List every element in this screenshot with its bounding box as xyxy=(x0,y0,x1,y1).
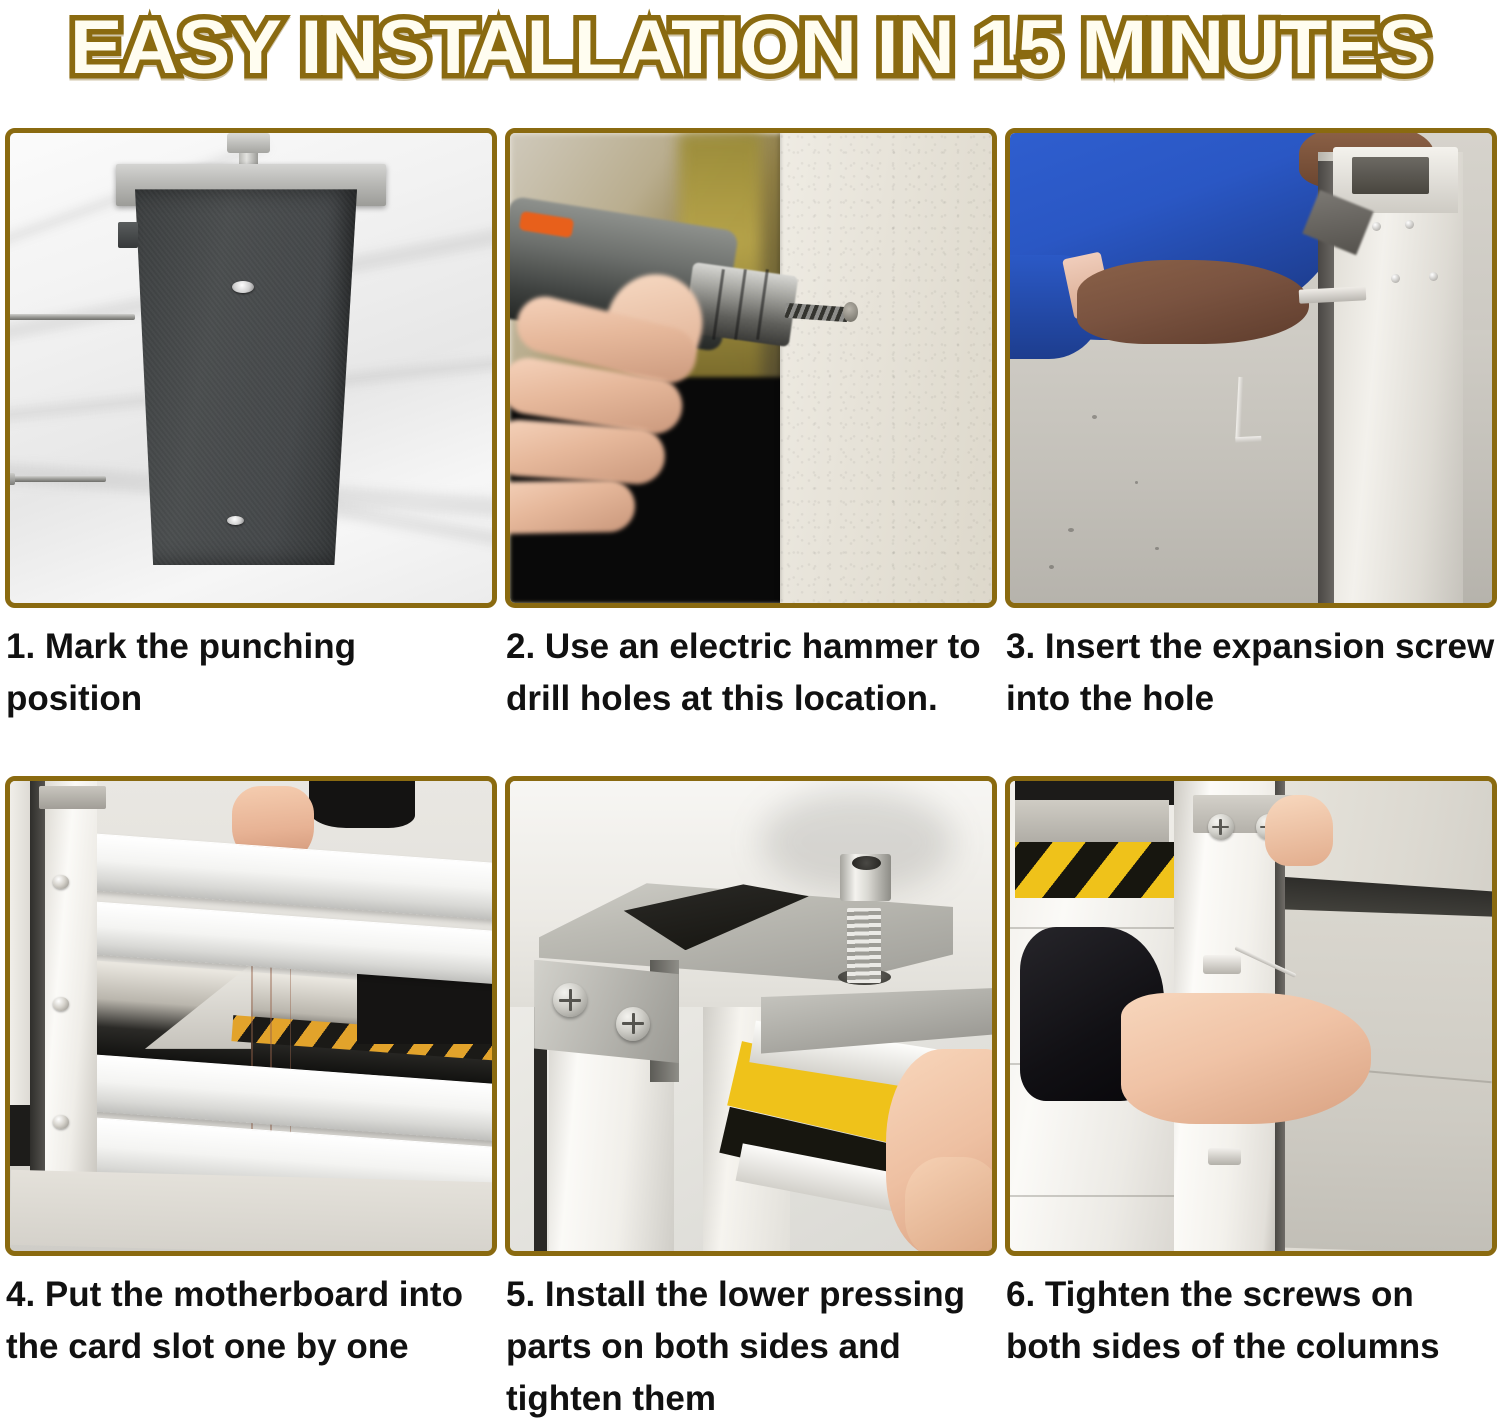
pressing-plate-lower xyxy=(761,988,992,1054)
hazard-stripe-backer xyxy=(1015,800,1169,842)
floor-speck xyxy=(1068,528,1074,532)
column-post xyxy=(44,781,97,1195)
alignment-pin-lower xyxy=(10,476,106,482)
thumb-bolt-shaft xyxy=(847,908,881,983)
board-seam xyxy=(1010,1195,1184,1197)
column-post-cap xyxy=(39,786,106,810)
installer-hand xyxy=(1121,993,1372,1125)
post-lug xyxy=(118,222,137,248)
drilled-hole xyxy=(843,302,858,322)
post-bolt-head xyxy=(227,133,270,153)
step-4-insert-boards-photo xyxy=(10,781,492,1251)
step-1-mark-punching-position-photo xyxy=(10,133,492,603)
installer-upper-hand xyxy=(1265,795,1332,866)
step-2-drill-holes-photo xyxy=(510,133,992,603)
floor xyxy=(10,1170,492,1251)
floor-speck xyxy=(1092,415,1097,419)
step-4-photo-frame xyxy=(5,776,497,1256)
phillips-screw xyxy=(1208,814,1234,840)
step-5-install-pressing-parts-photo xyxy=(510,781,992,1251)
step-3-caption: 3. Insert the expansion screw into the h… xyxy=(1006,621,1498,725)
step-6-caption: 6. Tighten the screws on both sides of t… xyxy=(1006,1269,1498,1373)
side-screw-lower xyxy=(1208,1148,1242,1165)
expansion-screw xyxy=(1429,272,1438,281)
side-screw-upper xyxy=(1203,955,1242,974)
step-2-photo-frame xyxy=(505,128,997,608)
column-bolt xyxy=(53,1115,69,1129)
bracket-front-face xyxy=(534,960,679,1063)
alignment-pin-upper xyxy=(10,314,135,320)
step-5-photo-frame xyxy=(505,776,997,1256)
textured-wall xyxy=(780,133,992,603)
page-title: EASY INSTALLATION IN 15 MINUTES xyxy=(70,10,1430,86)
hazard-stripe xyxy=(1015,842,1174,898)
step-2-caption: 2. Use an electric hammer to drill holes… xyxy=(506,621,998,725)
step-5-caption: 5. Install the lower pressing parts on b… xyxy=(506,1269,998,1425)
phillips-screw xyxy=(616,1007,650,1041)
header-banner: EASY INSTALLATION IN 15 MINUTES xyxy=(0,0,1500,96)
step-6-photo-frame xyxy=(1005,776,1497,1256)
expansion-screw xyxy=(1391,274,1400,283)
installation-steps-grid: 1. Mark the punching position xyxy=(0,96,1500,1403)
step-3-photo-frame xyxy=(1005,128,1497,608)
column-slot xyxy=(1352,157,1429,195)
step-6-tighten-column-screws-photo xyxy=(1010,781,1492,1251)
step-1-caption: 1. Mark the punching position xyxy=(6,621,498,725)
finger xyxy=(510,418,666,486)
floor-speck xyxy=(1155,547,1159,550)
step-1-photo-frame xyxy=(5,128,497,608)
mounting-post xyxy=(131,189,358,565)
expansion-screw xyxy=(1372,222,1381,231)
step-4-caption: 4. Put the motherboard into the card slo… xyxy=(6,1269,498,1373)
step-3-insert-expansion-screw-photo xyxy=(1010,133,1492,603)
installer-thumb xyxy=(905,1157,992,1251)
wall-edge xyxy=(778,133,781,603)
column-post-edge xyxy=(30,781,44,1195)
dark-background-upper xyxy=(309,781,415,828)
finger xyxy=(510,479,636,533)
worker-arm xyxy=(1077,260,1308,345)
